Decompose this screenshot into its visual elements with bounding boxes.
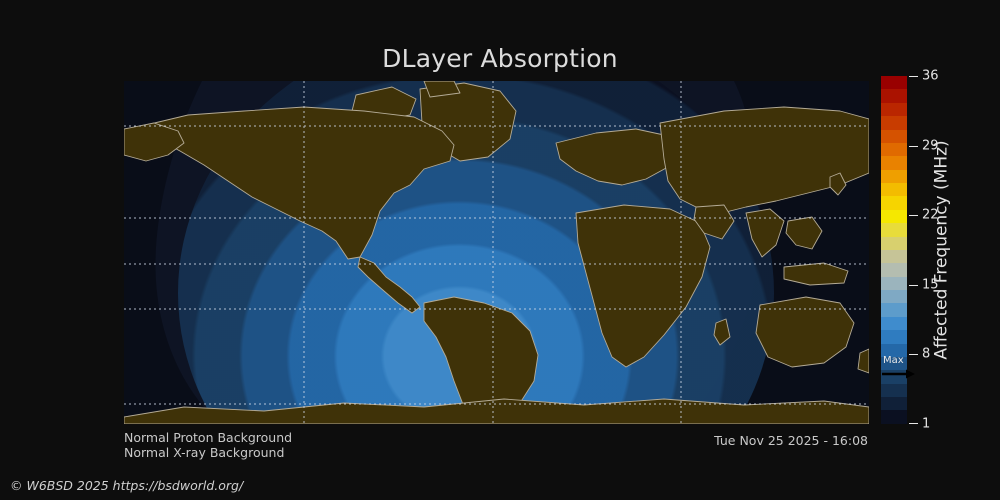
world-map-svg — [124, 81, 869, 424]
colorbar-band — [881, 263, 907, 276]
max-marker-arrow-icon — [882, 368, 916, 380]
colorbar-band — [881, 277, 907, 290]
colorbar-band — [881, 410, 907, 423]
colorbar-tick-mark — [909, 215, 918, 216]
colorbar-band — [881, 89, 907, 102]
colorbar-band — [881, 156, 907, 169]
colorbar-band — [881, 250, 907, 263]
colorbar-axis-label: Affected Frequency (MHz) — [930, 76, 954, 424]
colorbar-band — [881, 330, 907, 343]
status-proton-background: Normal Proton Background — [124, 430, 292, 445]
colorbar-band — [881, 223, 907, 236]
colorbar-band — [881, 384, 907, 397]
colorbar-axis-label-text: Affected Frequency (MHz) — [932, 140, 952, 359]
colorbar-max-marker: Max — [881, 356, 921, 382]
max-marker-label: Max — [883, 355, 904, 366]
colorbar-band — [881, 290, 907, 303]
colorbar-band — [881, 303, 907, 316]
colorbar-band — [881, 317, 907, 330]
page-title: DLayer Absorption — [0, 44, 1000, 73]
colorbar[interactable]: 3629221581 Max — [881, 76, 907, 424]
colorbar-band — [881, 183, 907, 196]
copyright-notice: © W6BSD 2025 https://bsdworld.org/ — [10, 478, 243, 493]
colorbar-tick-mark — [909, 146, 918, 147]
colorbar-band — [881, 170, 907, 183]
colorbar-band — [881, 76, 907, 89]
colorbar-band — [881, 143, 907, 156]
colorbar-band — [881, 210, 907, 223]
colorbar-band — [881, 130, 907, 143]
colorbar-tick-mark — [909, 354, 918, 355]
colorbar-band — [881, 196, 907, 209]
timestamp: Tue Nov 25 2025 - 16:08 — [714, 433, 868, 448]
world-map-panel[interactable] — [124, 81, 869, 424]
colorbar-band — [881, 116, 907, 129]
colorbar-tick-mark — [909, 423, 918, 424]
colorbar-band — [881, 237, 907, 250]
colorbar-band — [881, 397, 907, 410]
colorbar-tick-mark — [909, 285, 918, 286]
colorbar-tick-mark — [909, 76, 918, 77]
colorbar-band — [881, 103, 907, 116]
status-xray-background: Normal X-ray Background — [124, 445, 284, 460]
